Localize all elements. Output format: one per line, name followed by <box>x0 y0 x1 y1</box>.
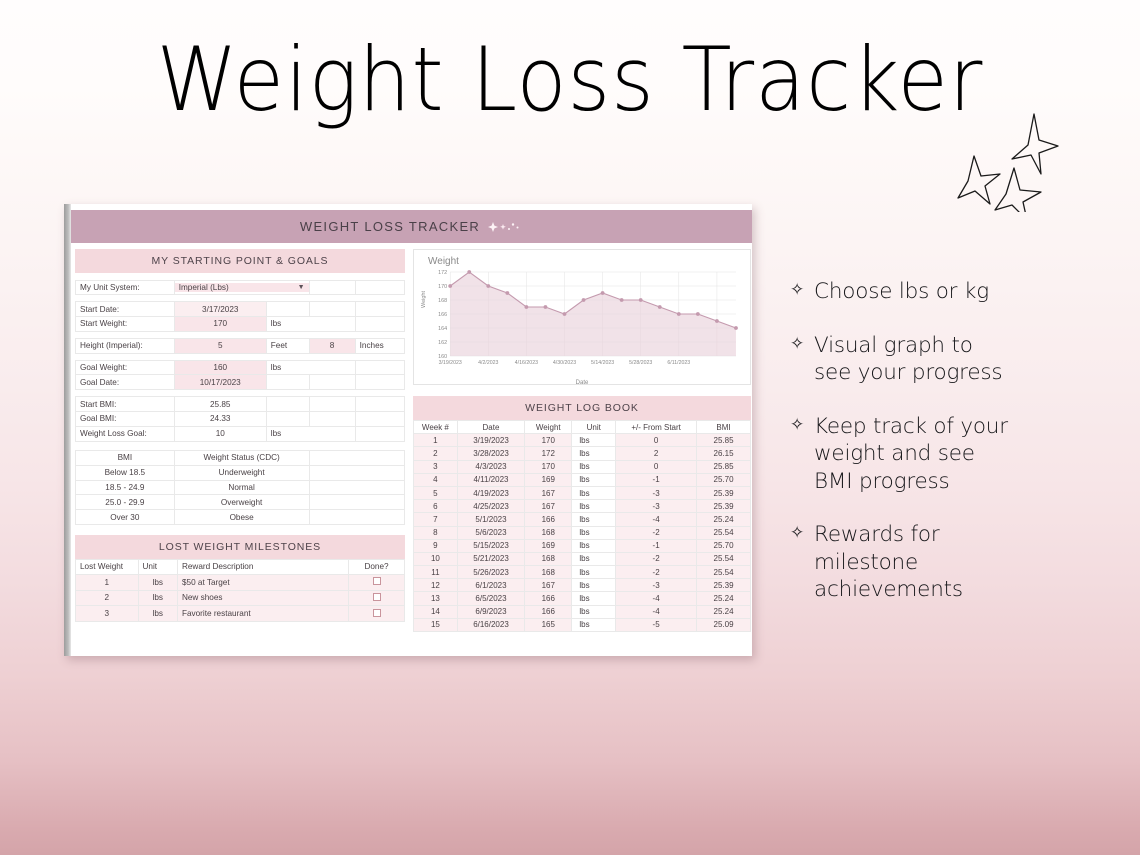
logbook-cell-weight: 167 <box>525 579 572 592</box>
table-row: 64/25/2023167lbs-325.39 <box>414 500 751 513</box>
ms-done-cell[interactable] <box>349 574 405 590</box>
list-item: ✧ Keep track of yourweight and seeBMI pr… <box>790 413 1090 496</box>
table-row: 3 lbs Favorite restaurant <box>76 606 405 622</box>
logbook-cell-weight: 172 <box>525 447 572 460</box>
start-bmi-label: Start BMI: <box>76 397 175 412</box>
logbook-cell-weight: 168 <box>525 566 572 579</box>
table-header-row: Lost Weight Unit Reward Description Done… <box>76 559 405 574</box>
weight-loss-goal-unit: lbs <box>266 426 355 441</box>
ms-done-cell[interactable] <box>349 590 405 606</box>
height-label: Height (Imperial): <box>76 338 175 353</box>
milestones-header: LOST WEIGHT MILESTONES <box>75 535 405 559</box>
feature-text: Choose lbs or kg <box>814 278 989 306</box>
starting-point-header: MY STARTING POINT & GOALS <box>75 249 405 273</box>
table-header-row: BMI Weight Status (CDC) <box>76 451 405 466</box>
goal-weight-row: Goal Weight: 160 lbs <box>76 360 405 375</box>
checkbox-icon[interactable] <box>373 577 381 585</box>
logbook-cell-bmi: 25.70 <box>697 539 751 552</box>
four-point-star-bullet-icon: ✧ <box>790 521 804 604</box>
ms-col-done: Done? <box>349 559 405 574</box>
logbook-cell-week: 10 <box>414 552 458 565</box>
ms-reward[interactable]: $50 at Target <box>177 574 348 590</box>
logbook-cell-weight: 168 <box>525 526 572 539</box>
height-feet-unit: Feet <box>266 338 309 353</box>
table-row: 1 lbs $50 at Target <box>76 574 405 590</box>
logbook-cell-weight: 165 <box>525 618 572 631</box>
bmi-status: Obese <box>174 510 309 525</box>
logbook-col-header-4: +/- From Start <box>616 421 697 434</box>
starting-point-grid: My Unit System: Imperial (Lbs) ▼ Start D <box>75 273 405 448</box>
svg-text:4/30/2023: 4/30/2023 <box>553 360 576 366</box>
ms-done-cell[interactable] <box>349 606 405 622</box>
chart-plot-area: Weight 1601621641661681701723/19/20234/2… <box>420 268 742 376</box>
table-row: 23/28/2023172lbs226.15 <box>414 447 751 460</box>
logbook-cell-bmi: 25.70 <box>697 473 751 486</box>
hero-stars-decoration <box>940 112 1060 212</box>
logbook-cell-date: 5/15/2023 <box>457 539 524 552</box>
bmi-range: Below 18.5 <box>76 465 175 480</box>
logbook-cell-week: 5 <box>414 486 458 499</box>
left-column: MY STARTING POINT & GOALS My Unit System… <box>75 249 405 622</box>
logbook-cell-week: 6 <box>414 500 458 513</box>
logbook-cell-weight: 167 <box>525 486 572 499</box>
ms-reward[interactable]: New shoes <box>177 590 348 606</box>
svg-text:164: 164 <box>438 326 447 332</box>
ms-col-lost-weight: Lost Weight <box>76 559 139 574</box>
logbook-cell-bmi: 25.54 <box>697 566 751 579</box>
logbook-cell-from-start: -4 <box>616 605 697 618</box>
ms-reward[interactable]: Favorite restaurant <box>177 606 348 622</box>
logbook-cell-from-start: 0 <box>616 434 697 447</box>
logbook-cell-unit: lbs <box>572 592 616 605</box>
bmi-col-header: BMI <box>76 451 175 466</box>
height-feet-value[interactable]: 5 <box>174 338 266 353</box>
table-row: 85/6/2023168lbs-225.54 <box>414 526 751 539</box>
logbook-cell-unit: lbs <box>572 566 616 579</box>
logbook-cell-date: 6/16/2023 <box>457 618 524 631</box>
goal-weight-unit: lbs <box>266 360 355 375</box>
svg-text:6/11/2023: 6/11/2023 <box>667 360 690 366</box>
logbook-cell-from-start: -4 <box>616 513 697 526</box>
table-row: Over 30 Obese <box>76 510 405 525</box>
start-weight-row: Start Weight: 170 lbs <box>76 317 405 332</box>
logbook-cell-weight: 169 <box>525 539 572 552</box>
logbook-cell-bmi: 25.39 <box>697 500 751 513</box>
logbook-cell-bmi: 25.54 <box>697 552 751 565</box>
list-item: ✧ Rewards formilestoneachievements <box>790 521 1090 604</box>
logbook-table: Week #DateWeightUnit+/- From StartBMI 13… <box>413 420 751 632</box>
four-point-star-bullet-icon: ✧ <box>790 332 804 387</box>
logbook-cell-weight: 166 <box>525 605 572 618</box>
start-date-row: Start Date: 3/17/2023 <box>76 302 405 317</box>
logbook-cell-weight: 166 <box>525 592 572 605</box>
logbook-cell-from-start: 2 <box>616 447 697 460</box>
logbook-cell-date: 5/6/2023 <box>457 526 524 539</box>
ms-col-unit: Unit <box>138 559 177 574</box>
logbook-cell-from-start: -1 <box>616 539 697 552</box>
svg-text:172: 172 <box>438 270 447 276</box>
table-row: 126/1/2023167lbs-325.39 <box>414 579 751 592</box>
weight-loss-goal-value: 10 <box>174 426 266 441</box>
logbook-cell-week: 11 <box>414 566 458 579</box>
sheet-banner: WEIGHT LOSS TRACKER <box>71 210 752 243</box>
weight-status-col-header: Weight Status (CDC) <box>174 451 309 466</box>
ms-unit: lbs <box>138 574 177 590</box>
table-row: 115/26/2023168lbs-225.54 <box>414 566 751 579</box>
logbook-cell-from-start: -4 <box>616 592 697 605</box>
sheet-banner-title: WEIGHT LOSS TRACKER <box>300 219 480 234</box>
logbook-cell-date: 6/5/2023 <box>457 592 524 605</box>
logbook-cell-week: 15 <box>414 618 458 631</box>
svg-text:166: 166 <box>438 312 447 318</box>
logbook-cell-unit: lbs <box>572 526 616 539</box>
chart-title: Weight <box>428 256 742 267</box>
logbook-cell-unit: lbs <box>572 513 616 526</box>
logbook-cell-week: 7 <box>414 513 458 526</box>
logbook-cell-bmi: 25.24 <box>697 605 751 618</box>
feature-text: Keep track of yourweight and seeBMI prog… <box>814 413 1008 496</box>
logbook-cell-from-start: -1 <box>616 473 697 486</box>
logbook-col-header-5: BMI <box>697 421 751 434</box>
logbook-cell-from-start: -2 <box>616 552 697 565</box>
logbook-cell-week: 13 <box>414 592 458 605</box>
bmi-status: Overweight <box>174 495 309 510</box>
logbook-cell-bmi: 25.85 <box>697 434 751 447</box>
logbook-cell-weight: 170 <box>525 434 572 447</box>
goal-date-label: Goal Date: <box>76 375 175 390</box>
svg-text:168: 168 <box>438 298 447 304</box>
logbook-cell-from-start: -5 <box>616 618 697 631</box>
start-bmi-value: 25.85 <box>174 397 266 412</box>
logbook-cell-date: 4/11/2023 <box>457 473 524 486</box>
logbook-col-header-3: Unit <box>572 421 616 434</box>
chart-x-axis-label: Date <box>414 380 750 386</box>
milestones-panel: LOST WEIGHT MILESTONES Lost Weight Unit … <box>75 535 405 622</box>
logbook-cell-bmi: 25.39 <box>697 579 751 592</box>
logbook-cell-week: 1 <box>414 434 458 447</box>
weight-loss-goal-row: Weight Loss Goal: 10 lbs <box>76 426 405 441</box>
chart-svg: 1601621641661681701723/19/20234/2/20234/… <box>420 268 742 376</box>
table-row: 146/9/2023166lbs-425.24 <box>414 605 751 618</box>
bmi-range: 25.0 - 29.9 <box>76 495 175 510</box>
feature-list: ✧ Choose lbs or kg ✧ Visual graph tosee … <box>790 278 1090 630</box>
height-row: Height (Imperial): 5 Feet 8 Inches <box>76 338 405 353</box>
logbook-cell-unit: lbs <box>572 473 616 486</box>
logbook-cell-from-start: -3 <box>616 486 697 499</box>
logbook-col-header-0: Week # <box>414 421 458 434</box>
table-row: 54/19/2023167lbs-325.39 <box>414 486 751 499</box>
start-weight-value[interactable]: 170 <box>174 317 266 332</box>
logbook-cell-week: 8 <box>414 526 458 539</box>
height-inches-value[interactable]: 8 <box>309 338 355 353</box>
logbook-cell-date: 4/3/2023 <box>457 460 524 473</box>
logbook-cell-unit: lbs <box>572 552 616 565</box>
table-row: 18.5 - 24.9 Normal <box>76 480 405 495</box>
logbook-cell-bmi: 25.24 <box>697 513 751 526</box>
svg-text:162: 162 <box>438 340 447 346</box>
bmi-reference-table: BMI Weight Status (CDC) Below 18.5 Under… <box>75 450 405 525</box>
weight-loss-goal-label: Weight Loss Goal: <box>76 426 175 441</box>
svg-text:4/2/2023: 4/2/2023 <box>478 360 498 366</box>
logbook-cell-unit: lbs <box>572 460 616 473</box>
goal-weight-value[interactable]: 160 <box>174 360 266 375</box>
logbook-cell-week: 4 <box>414 473 458 486</box>
logbook-cell-bmi: 25.24 <box>697 592 751 605</box>
right-column: Weight Weight 1601621641661681701723/19/… <box>413 249 751 632</box>
table-row: 25.0 - 29.9 Overweight <box>76 495 405 510</box>
checkbox-icon[interactable] <box>373 609 381 617</box>
logbook-cell-from-start: 0 <box>616 460 697 473</box>
checkbox-icon[interactable] <box>373 593 381 601</box>
logbook-cell-date: 6/9/2023 <box>457 605 524 618</box>
goal-date-row: Goal Date: 10/17/2023 <box>76 375 405 390</box>
four-point-star-bullet-icon: ✧ <box>790 413 804 496</box>
table-row: 105/21/2023168lbs-225.54 <box>414 552 751 565</box>
logbook-cell-week: 2 <box>414 447 458 460</box>
logbook-cell-date: 3/19/2023 <box>457 434 524 447</box>
table-row: 95/15/2023169lbs-125.70 <box>414 539 751 552</box>
logbook-cell-week: 9 <box>414 539 458 552</box>
logbook-panel: WEIGHT LOG BOOK Week #DateWeightUnit+/- … <box>413 396 751 632</box>
table-row: 34/3/2023170lbs025.85 <box>414 460 751 473</box>
logbook-cell-week: 3 <box>414 460 458 473</box>
ms-lost-weight: 2 <box>76 590 139 606</box>
table-row: 136/5/2023166lbs-425.24 <box>414 592 751 605</box>
logbook-cell-unit: lbs <box>572 447 616 460</box>
sparkle-icon <box>487 221 523 233</box>
svg-text:4/16/2023: 4/16/2023 <box>515 360 538 366</box>
spreadsheet-card: WEIGHT LOSS TRACKER MY STARTING POINT & … <box>64 204 752 656</box>
logbook-cell-unit: lbs <box>572 486 616 499</box>
table-row: Below 18.5 Underweight <box>76 465 405 480</box>
ms-unit: lbs <box>138 606 177 622</box>
start-bmi-row: Start BMI: 25.85 <box>76 397 405 412</box>
goal-bmi-label: Goal BMI: <box>76 411 175 426</box>
logbook-cell-unit: lbs <box>572 500 616 513</box>
svg-text:5/14/2023: 5/14/2023 <box>591 360 614 366</box>
start-weight-label: Start Weight: <box>76 317 175 332</box>
milestones-table: Lost Weight Unit Reward Description Done… <box>75 559 405 622</box>
logbook-cell-week: 14 <box>414 605 458 618</box>
logbook-cell-from-start: -2 <box>616 566 697 579</box>
logbook-cell-date: 3/28/2023 <box>457 447 524 460</box>
logbook-cell-from-start: -2 <box>616 526 697 539</box>
logbook-cell-weight: 166 <box>525 513 572 526</box>
logbook-cell-date: 4/19/2023 <box>457 486 524 499</box>
height-inches-unit: Inches <box>355 338 404 353</box>
logbook-cell-from-start: -3 <box>616 579 697 592</box>
table-row: 75/1/2023166lbs-425.24 <box>414 513 751 526</box>
bmi-status: Normal <box>174 480 309 495</box>
logbook-cell-bmi: 25.09 <box>697 618 751 631</box>
table-row: 44/11/2023169lbs-125.70 <box>414 473 751 486</box>
svg-text:3/19/2023: 3/19/2023 <box>439 360 462 366</box>
logbook-header: WEIGHT LOG BOOK <box>413 396 751 420</box>
logbook-cell-unit: lbs <box>572 605 616 618</box>
goal-bmi-row: Goal BMI: 24.33 <box>76 411 405 426</box>
feature-text: Rewards formilestoneachievements <box>814 521 963 604</box>
logbook-cell-date: 5/26/2023 <box>457 566 524 579</box>
goal-weight-label: Goal Weight: <box>76 360 175 375</box>
goal-bmi-value: 24.33 <box>174 411 266 426</box>
weight-chart-card: Weight Weight 1601621641661681701723/19/… <box>413 249 751 385</box>
bmi-status: Underweight <box>174 465 309 480</box>
bmi-range: 18.5 - 24.9 <box>76 480 175 495</box>
svg-text:5/28/2023: 5/28/2023 <box>629 360 652 366</box>
start-date-label: Start Date: <box>76 302 175 317</box>
logbook-cell-weight: 167 <box>525 500 572 513</box>
logbook-cell-week: 12 <box>414 579 458 592</box>
logbook-col-header-1: Date <box>457 421 524 434</box>
bmi-range: Over 30 <box>76 510 175 525</box>
logbook-cell-date: 5/21/2023 <box>457 552 524 565</box>
logbook-cell-bmi: 25.54 <box>697 526 751 539</box>
logbook-cell-unit: lbs <box>572 618 616 631</box>
table-row: 13/19/2023170lbs025.85 <box>414 434 751 447</box>
logbook-cell-from-start: -3 <box>616 500 697 513</box>
table-row: 156/16/2023165lbs-525.09 <box>414 618 751 631</box>
ms-lost-weight: 1 <box>76 574 139 590</box>
unit-system-select[interactable]: Imperial (Lbs) ▼ <box>174 280 309 295</box>
logbook-cell-date: 4/25/2023 <box>457 500 524 513</box>
chevron-down-icon: ▼ <box>298 284 305 291</box>
logbook-cell-weight: 170 <box>525 460 572 473</box>
start-weight-unit: lbs <box>266 317 355 332</box>
ms-unit: lbs <box>138 590 177 606</box>
feature-text: Visual graph tosee your progress <box>814 332 1002 387</box>
table-row: 2 lbs New shoes <box>76 590 405 606</box>
sheet-row-gutter <box>64 204 71 656</box>
logbook-cell-unit: lbs <box>572 539 616 552</box>
unit-system-label: My Unit System: <box>76 280 175 295</box>
table-header-row: Week #DateWeightUnit+/- From StartBMI <box>414 421 751 434</box>
logbook-cell-date: 5/1/2023 <box>457 513 524 526</box>
logbook-cell-bmi: 26.15 <box>697 447 751 460</box>
ms-col-reward: Reward Description <box>177 559 348 574</box>
logbook-cell-weight: 168 <box>525 552 572 565</box>
four-point-star-bullet-icon: ✧ <box>790 278 804 306</box>
list-item: ✧ Choose lbs or kg <box>790 278 1090 306</box>
chart-y-axis-label: Weight <box>421 291 427 308</box>
svg-text:170: 170 <box>438 284 447 290</box>
start-date-value[interactable]: 3/17/2023 <box>174 302 266 317</box>
logbook-cell-bmi: 25.85 <box>697 460 751 473</box>
unit-system-row: My Unit System: Imperial (Lbs) ▼ <box>76 280 405 295</box>
logbook-cell-weight: 169 <box>525 473 572 486</box>
logbook-col-header-2: Weight <box>525 421 572 434</box>
ms-lost-weight: 3 <box>76 606 139 622</box>
logbook-cell-bmi: 25.39 <box>697 486 751 499</box>
logbook-cell-unit: lbs <box>572 434 616 447</box>
logbook-cell-date: 6/1/2023 <box>457 579 524 592</box>
list-item: ✧ Visual graph tosee your progress <box>790 332 1090 387</box>
logbook-cell-unit: lbs <box>572 579 616 592</box>
unit-system-value: Imperial (Lbs) <box>179 283 229 292</box>
goal-date-value[interactable]: 10/17/2023 <box>174 375 266 390</box>
